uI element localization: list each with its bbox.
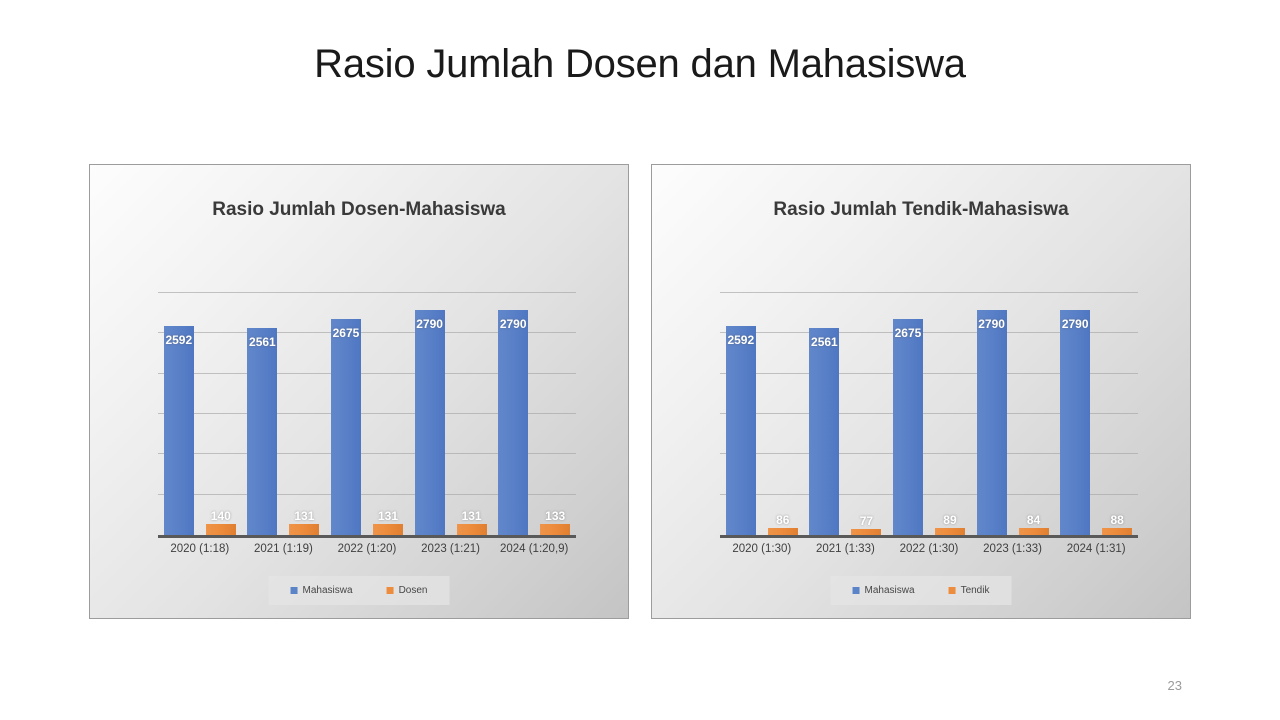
- chart-legend[interactable]: MahasiswaTendik: [831, 576, 1012, 605]
- legend-item[interactable]: Tendik: [949, 585, 990, 596]
- bar-mahasiswa[interactable]: 2561: [809, 328, 839, 535]
- bar-group: 279084: [971, 293, 1055, 535]
- legend-item[interactable]: Mahasiswa: [853, 585, 915, 596]
- bar-mahasiswa[interactable]: 2790: [415, 310, 445, 535]
- chart-legend[interactable]: MahasiswaDosen: [269, 576, 450, 605]
- bar-value-label: 131: [462, 509, 482, 523]
- bar-value-label: 77: [860, 514, 873, 528]
- page-number: 23: [1168, 678, 1182, 693]
- bar-value-label: 88: [1110, 513, 1123, 527]
- bar-value-label: 2592: [727, 333, 754, 347]
- bar-mahasiswa[interactable]: 2592: [726, 326, 756, 535]
- bar-mahasiswa[interactable]: 2592: [164, 326, 194, 535]
- bar-group: 256177: [804, 293, 888, 535]
- bar-tendik[interactable]: 84: [1019, 528, 1049, 535]
- bar-mahasiswa[interactable]: 2790: [977, 310, 1007, 535]
- bar-value-label: 2561: [811, 335, 838, 349]
- bar-value-label: 2790: [416, 317, 443, 331]
- bar-group: 2790133: [492, 293, 576, 535]
- category-label: 2021 (1:33): [804, 543, 888, 555]
- bar-tendik[interactable]: 88: [1102, 528, 1132, 535]
- category-axis-line: [720, 535, 1138, 538]
- chart-title: Rasio Jumlah Tendik-Mahasiswa: [652, 199, 1190, 221]
- category-labels: 2020 (1:18)2021 (1:19)2022 (1:20)2023 (1…: [158, 543, 576, 555]
- legend-swatch-icon: [387, 587, 394, 594]
- bar-value-label: 84: [1027, 513, 1040, 527]
- legend-item[interactable]: Dosen: [387, 585, 428, 596]
- bar-value-label: 2675: [895, 326, 922, 340]
- category-label: 2024 (1:20,9): [492, 543, 576, 555]
- category-label: 2021 (1:19): [242, 543, 326, 555]
- category-label: 2020 (1:18): [158, 543, 242, 555]
- bar-group: 2790131: [409, 293, 493, 535]
- legend-label: Mahasiswa: [865, 585, 915, 596]
- chart-title: Rasio Jumlah Dosen-Mahasiswa: [90, 199, 628, 221]
- category-labels: 2020 (1:30)2021 (1:33)2022 (1:30)2023 (1…: [720, 543, 1138, 555]
- bar-value-label: 86: [776, 513, 789, 527]
- bar-group: 2561131: [242, 293, 326, 535]
- bar-dosen[interactable]: 131: [373, 524, 403, 535]
- bar-mahasiswa[interactable]: 2675: [331, 319, 361, 535]
- bar-group: 2675131: [325, 293, 409, 535]
- bar-value-label: 2592: [165, 333, 192, 347]
- bar-tendik[interactable]: 86: [768, 528, 798, 535]
- bar-group: 279088: [1054, 293, 1138, 535]
- bar-value-label: 2790: [1062, 317, 1089, 331]
- plot-area: 25921402561131267513127901312790133: [158, 293, 576, 538]
- bar-mahasiswa[interactable]: 2561: [247, 328, 277, 535]
- category-label: 2023 (1:21): [409, 543, 493, 555]
- bar-mahasiswa[interactable]: 2790: [1060, 310, 1090, 535]
- category-label: 2020 (1:30): [720, 543, 804, 555]
- legend-label: Tendik: [961, 585, 990, 596]
- category-label: 2022 (1:20): [325, 543, 409, 555]
- bar-value-label: 133: [545, 509, 565, 523]
- category-axis-line: [158, 535, 576, 538]
- category-label: 2024 (1:31): [1054, 543, 1138, 555]
- bar-value-label: 2790: [500, 317, 527, 331]
- chart-panel-dosen-mahasiswa[interactable]: Rasio Jumlah Dosen-Mahasiswa 25921402561…: [89, 164, 629, 619]
- bar-value-label: 131: [378, 509, 398, 523]
- bar-dosen[interactable]: 131: [289, 524, 319, 535]
- bar-mahasiswa[interactable]: 2675: [893, 319, 923, 535]
- bar-groups: 259286256177267589279084279088: [720, 293, 1138, 535]
- legend-swatch-icon: [291, 587, 298, 594]
- bar-dosen[interactable]: 131: [457, 524, 487, 535]
- bar-group: 2592140: [158, 293, 242, 535]
- bar-mahasiswa[interactable]: 2790: [498, 310, 528, 535]
- plot-area: 259286256177267589279084279088: [720, 293, 1138, 538]
- category-label: 2023 (1:33): [971, 543, 1055, 555]
- legend-item[interactable]: Mahasiswa: [291, 585, 353, 596]
- chart-panel-tendik-mahasiswa[interactable]: Rasio Jumlah Tendik-Mahasiswa 2592862561…: [651, 164, 1191, 619]
- legend-swatch-icon: [949, 587, 956, 594]
- bar-value-label: 2561: [249, 335, 276, 349]
- bar-group: 267589: [887, 293, 971, 535]
- bar-value-label: 2675: [333, 326, 360, 340]
- bar-tendik[interactable]: 89: [935, 528, 965, 535]
- category-label: 2022 (1:30): [887, 543, 971, 555]
- bar-value-label: 140: [211, 509, 231, 523]
- legend-swatch-icon: [853, 587, 860, 594]
- legend-label: Mahasiswa: [303, 585, 353, 596]
- bar-value-label: 2790: [978, 317, 1005, 331]
- legend-label: Dosen: [399, 585, 428, 596]
- bar-dosen[interactable]: 140: [206, 524, 236, 535]
- bar-groups: 25921402561131267513127901312790133: [158, 293, 576, 535]
- bar-value-label: 131: [294, 509, 314, 523]
- bar-group: 259286: [720, 293, 804, 535]
- bar-value-label: 89: [943, 513, 956, 527]
- bar-dosen[interactable]: 133: [540, 524, 570, 535]
- page-title: Rasio Jumlah Dosen dan Mahasiswa: [0, 42, 1280, 87]
